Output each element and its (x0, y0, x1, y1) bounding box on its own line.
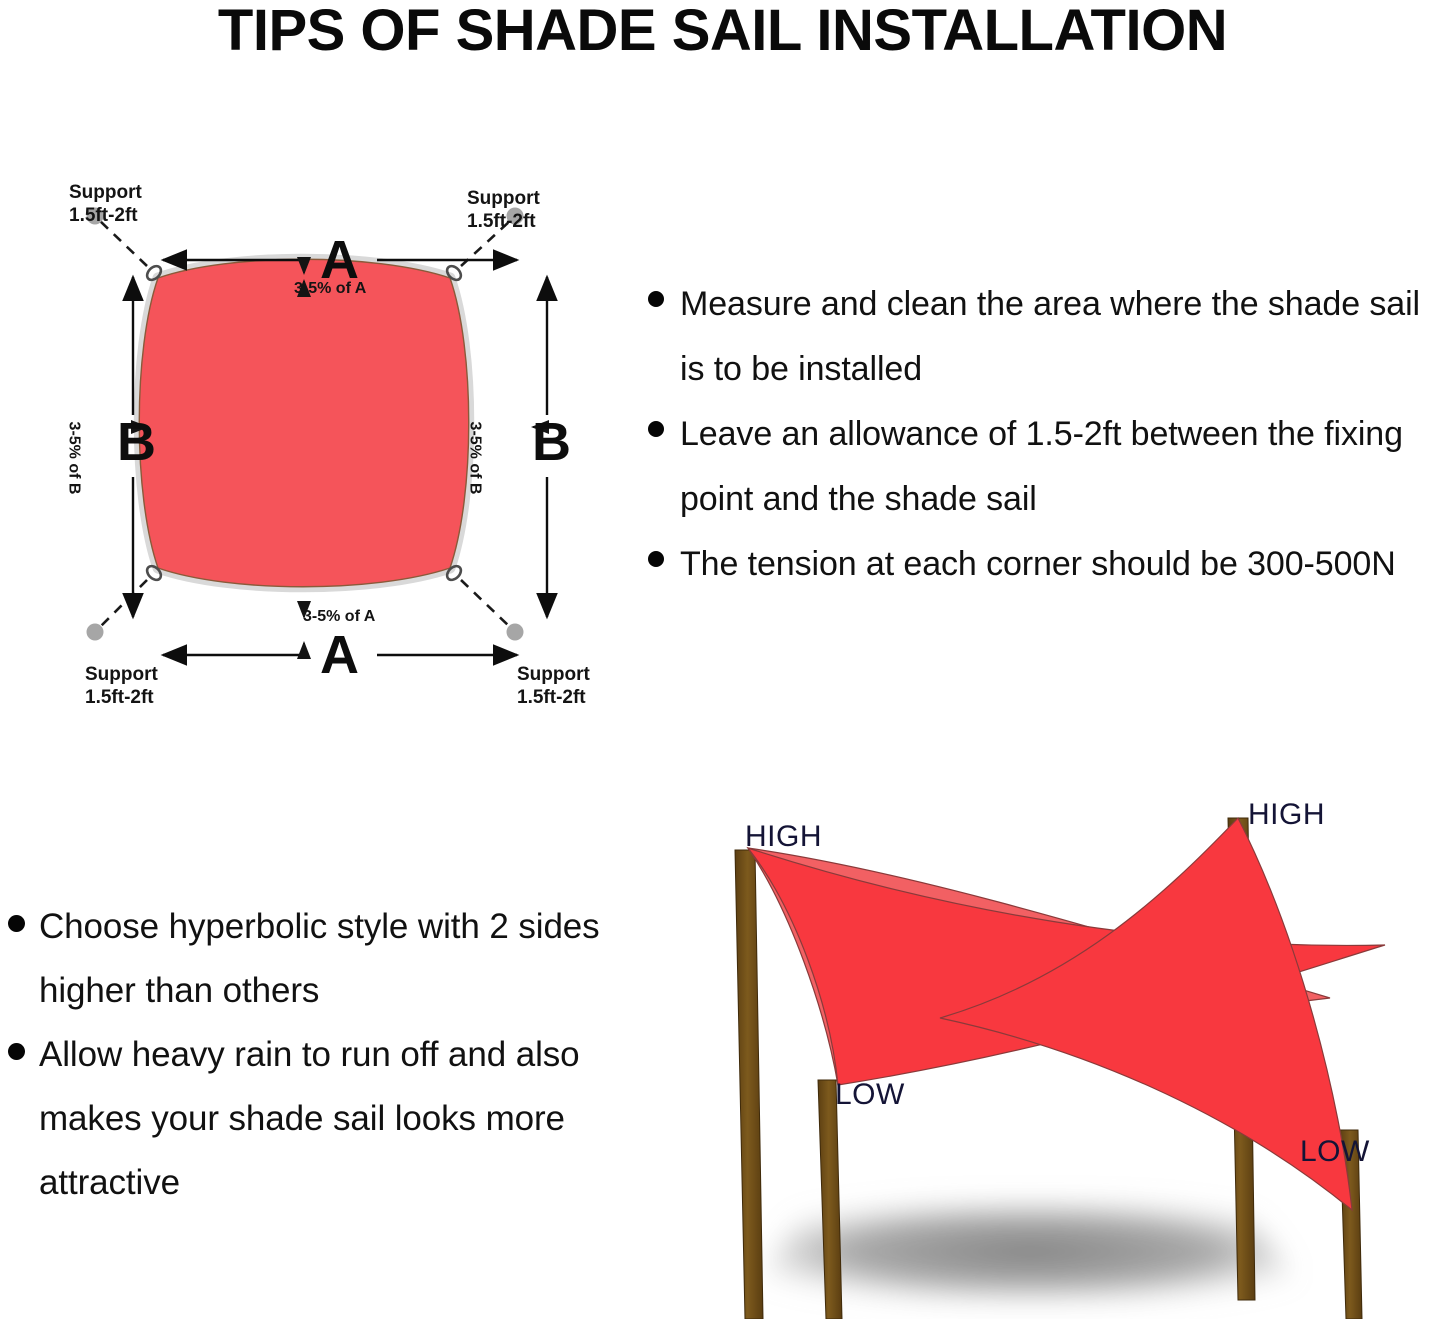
support-label-bottom-right: Support 1.5ft-2ft (517, 663, 590, 709)
label-low-left: LOW (835, 1078, 905, 1112)
label-low-right: LOW (1300, 1135, 1370, 1169)
dimension-letter-a-top: A (320, 233, 359, 287)
support-dot-bottom-right (507, 624, 524, 641)
bullet-icon (8, 1043, 25, 1060)
list-item-text: The tension at each corner should be 300… (680, 532, 1396, 597)
cable-top-left (100, 221, 147, 266)
installation-tips-list: Measure and clean the area where the sha… (648, 272, 1438, 597)
bullet-icon (8, 915, 25, 932)
support-label-bottom-left: Support 1.5ft-2ft (85, 663, 158, 709)
support-label-top-left: Support 1.5ft-2ft (69, 181, 142, 227)
support-label-line2: 1.5ft-2ft (467, 210, 540, 233)
cable-bottom-left (100, 580, 147, 627)
list-item-text: Allow heavy rain to run off and also mak… (39, 1023, 608, 1215)
support-label-line1: Support (517, 663, 590, 686)
support-label-top-right: Support 1.5ft-2ft (467, 187, 540, 233)
support-label-line1: Support (69, 181, 142, 204)
list-item: Measure and clean the area where the sha… (648, 272, 1438, 402)
sail-shape-group (139, 259, 469, 587)
label-high-left: HIGH (745, 820, 822, 854)
cable-bottom-right (461, 580, 510, 627)
hyperbolic-sail-svg (640, 780, 1445, 1319)
list-item-text: Measure and clean the area where the sha… (680, 272, 1438, 402)
square-sail-diagram: Support 1.5ft-2ft Support 1.5ft-2ft Supp… (55, 165, 630, 735)
sail-fabric (139, 259, 469, 587)
hyperbolic-sail-scene: HIGH HIGH LOW LOW (640, 780, 1445, 1319)
dimension-letter-b-left: B (117, 415, 156, 469)
dimension-letter-b-right: B (532, 415, 571, 469)
dimension-letter-a-bottom: A (320, 628, 359, 682)
list-item-text: Choose hyperbolic style with 2 sides hig… (39, 895, 608, 1023)
support-label-line2: 1.5ft-2ft (69, 204, 142, 227)
list-item: Choose hyperbolic style with 2 sides hig… (8, 895, 608, 1023)
percent-label-bottom: 3-5% of A (303, 608, 375, 626)
label-high-right: HIGH (1248, 798, 1325, 832)
hyperbolic-tips-list: Choose hyperbolic style with 2 sides hig… (8, 895, 608, 1215)
pole-high-left (735, 850, 763, 1319)
support-label-line1: Support (467, 187, 540, 210)
list-item-text: Leave an allowance of 1.5-2ft between th… (680, 402, 1438, 532)
support-label-line2: 1.5ft-2ft (517, 686, 590, 709)
support-label-line1: Support (85, 663, 158, 686)
bullet-icon (648, 291, 664, 307)
support-label-line2: 1.5ft-2ft (85, 686, 158, 709)
sail-panel-front (748, 818, 1385, 1210)
support-dot-bottom-left (87, 624, 104, 641)
list-item: Leave an allowance of 1.5-2ft between th… (648, 402, 1438, 532)
page-title: TIPS OF SHADE SAIL INSTALLATION (0, 0, 1445, 62)
percent-label-top: 3-5% of A (294, 280, 366, 298)
bullet-icon (648, 421, 664, 437)
bullet-icon (648, 551, 664, 567)
percent-label-left: 3-5% of B (64, 422, 82, 495)
list-item: The tension at each corner should be 300… (648, 532, 1438, 597)
list-item: Allow heavy rain to run off and also mak… (8, 1023, 608, 1215)
percent-label-right: 3-5% of B (465, 422, 483, 495)
